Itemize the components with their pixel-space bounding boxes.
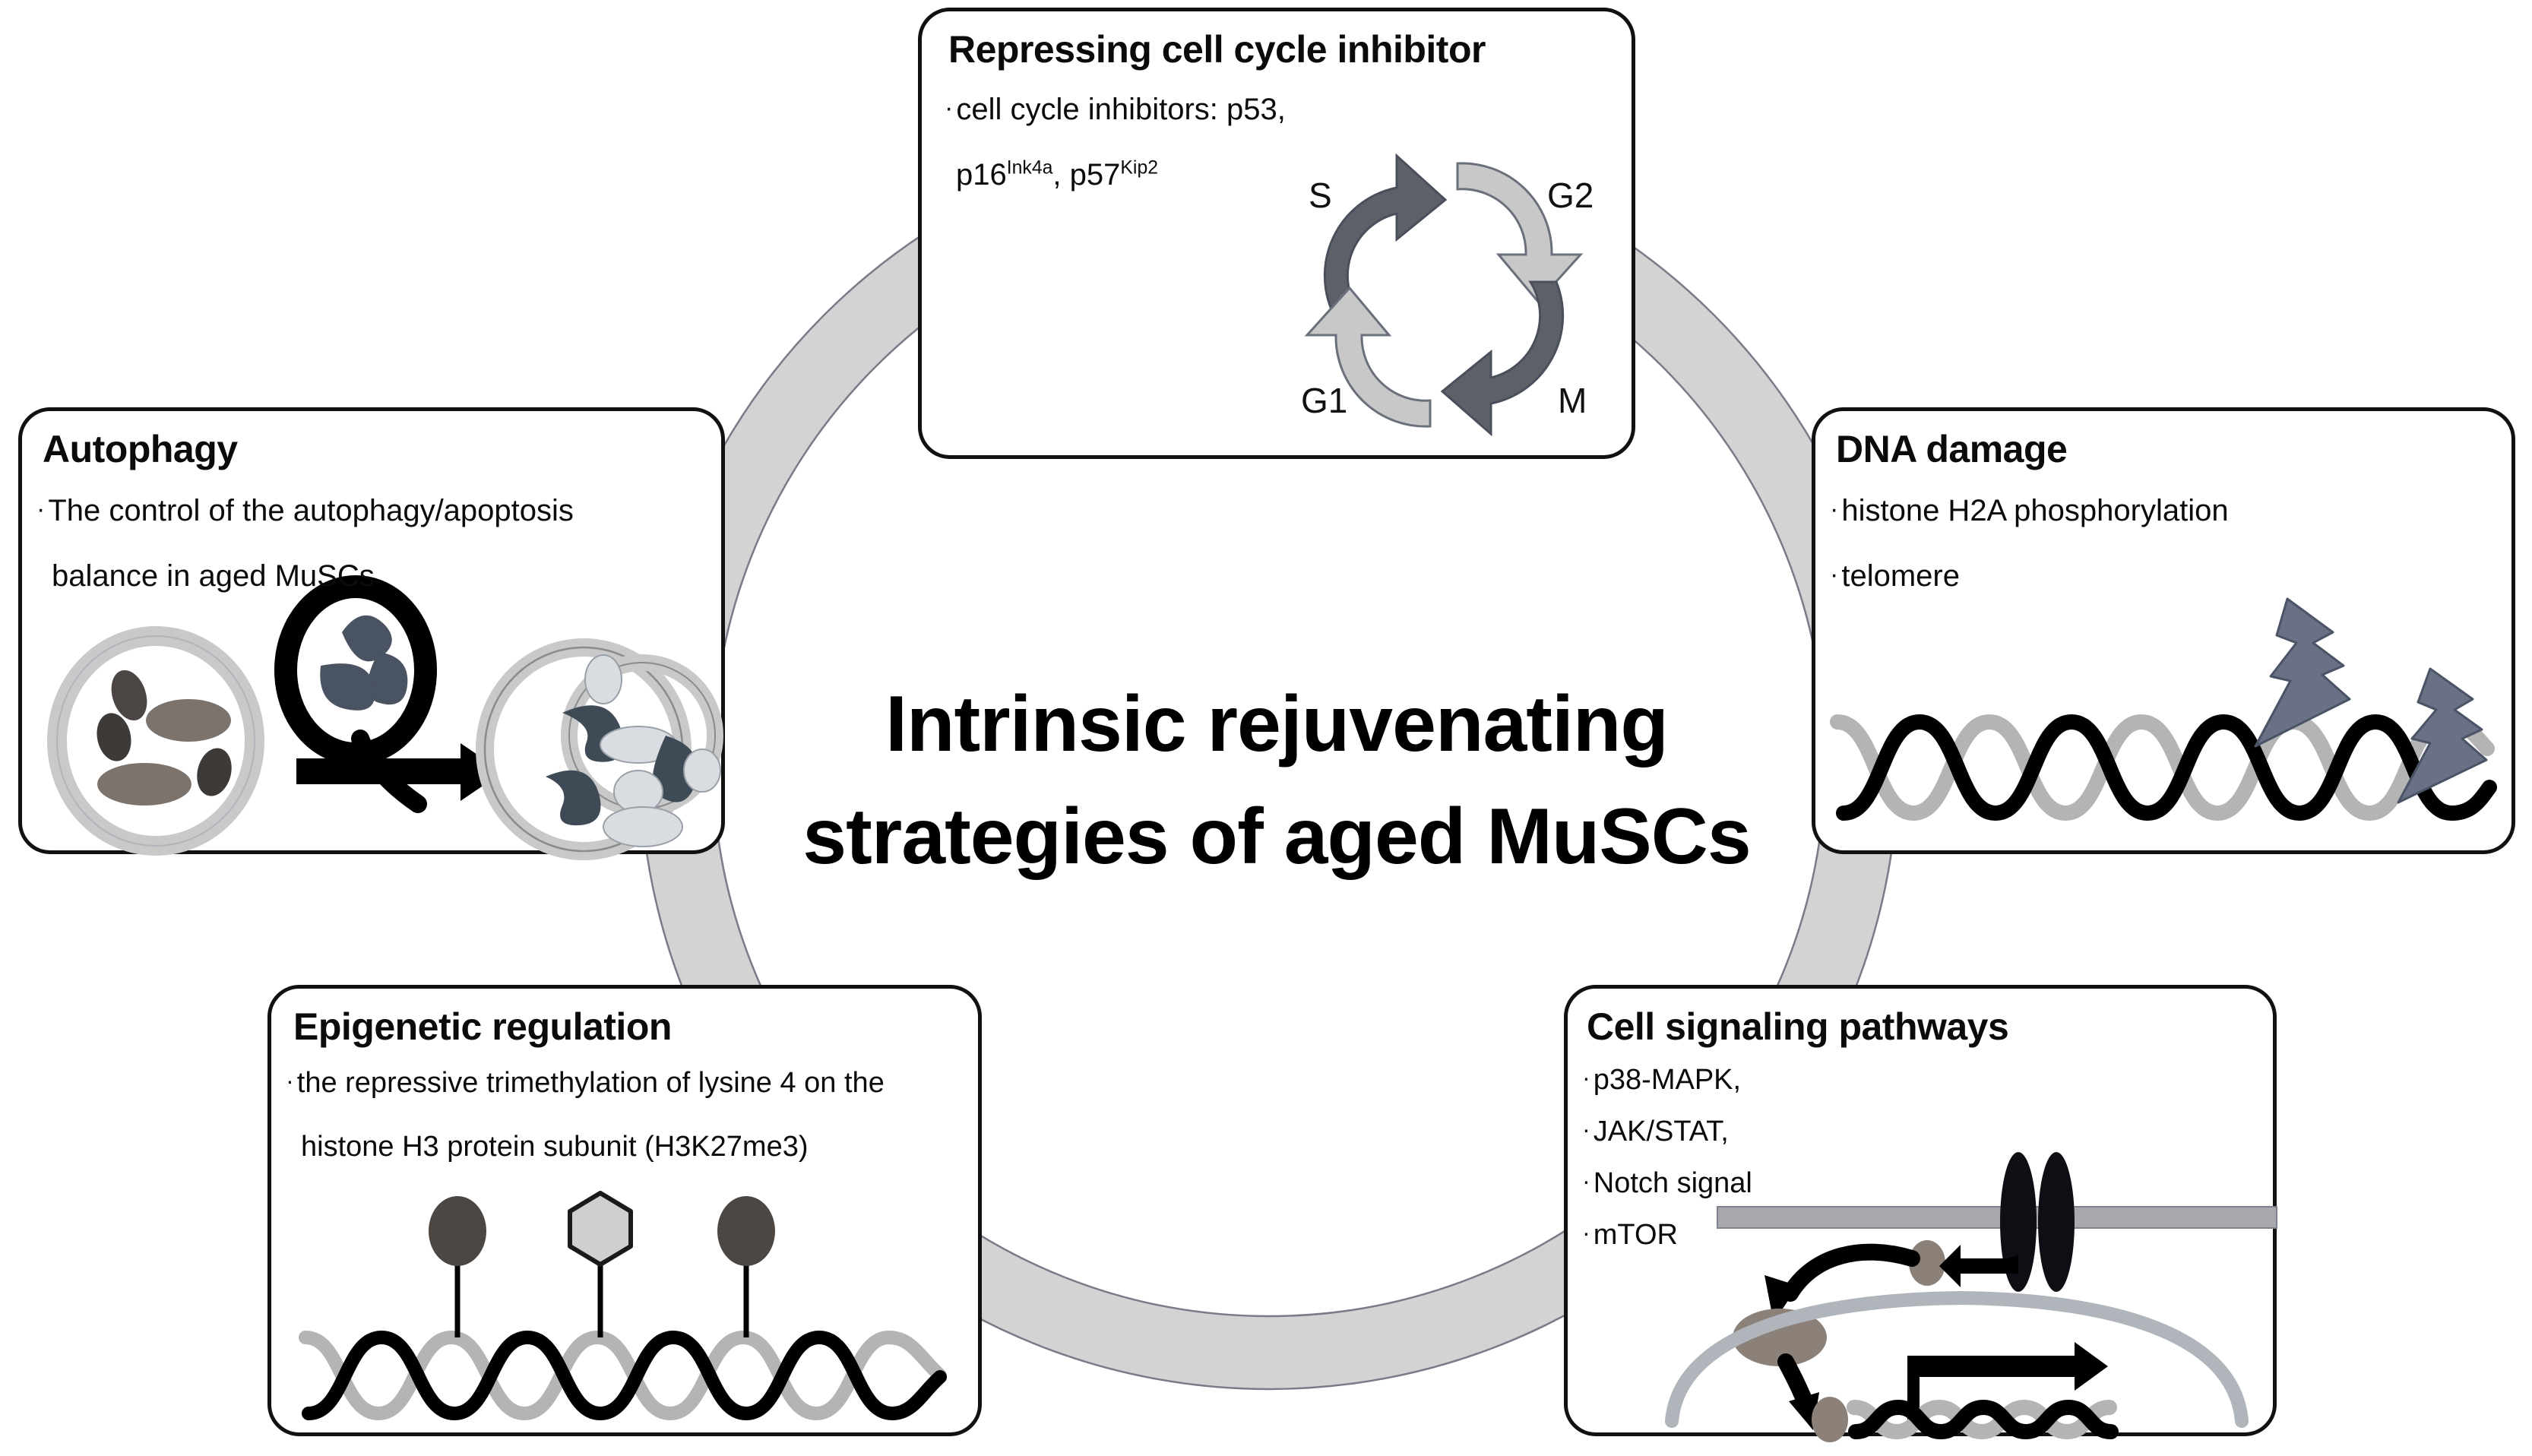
bullet-text: cell cycle inhibitors: p53, [956,93,1286,126]
bullet-marker: · [1582,1167,1590,1195]
bullet-marker: · [945,93,953,122]
dna-helix-damaged [1837,722,2489,813]
bullet-text: telomere [1841,559,1960,593]
bullet-marker: · [1830,560,1838,589]
bullet-text: histone H2A phosphorylation [1841,494,2228,527]
plasma-membrane [1717,1207,2277,1228]
bullet-marker: · [1582,1219,1590,1246]
card-title-cell-cycle: Repressing cell cycle inhibitor [948,27,1486,71]
bullet-text: balance in aged MuSCs [52,559,375,593]
bullet-text: p38-MAPK, [1594,1064,1741,1096]
bullet-dna-damage-1: ·telomere [1830,559,1960,593]
diagram-canvas: Intrinsic rejuvenating strategies of age… [0,0,2532,1456]
bullet-autophagy-0: ·The control of the autophagy/apoptosis [36,494,574,528]
bound-factor [1812,1397,1848,1442]
dna-damage-diagram [1830,585,2499,836]
bullet-marker: · [1582,1116,1590,1143]
card-title-autophagy: Autophagy [43,427,238,471]
bullet-text: The control of the autophagy/apoptosis [48,494,574,527]
gene-p57-base: , p57 [1052,158,1120,191]
bullet-marker: · [1830,495,1838,524]
cell-signaling-diagram [1634,1094,2277,1429]
nuclear-dna-helix [1854,1407,2111,1432]
card-title-signaling: Cell signaling pathways [1587,1005,2008,1049]
bullet-text: mTOR [1594,1219,1678,1251]
gene-p16-base: p16 [956,158,1007,191]
bullet-cell-cycle-0: ·cell cycle inhibitors: p53, [945,93,1286,127]
bullet-cell-cycle-1: p16Ink4a, p57Kip2 [956,158,1158,192]
histone-mark-1 [429,1196,486,1337]
bullet-text: the repressive trimethylation of lysine … [297,1067,885,1099]
bullet-signaling-1: ·JAK/STAT, [1582,1116,1729,1148]
epigenetic-diagram [298,1201,951,1429]
bullet-signaling-0: ·p38-MAPK, [1582,1064,1741,1097]
bullet-marker: · [1582,1064,1590,1091]
cell-cycle-arrow-s [1325,156,1445,309]
bullet-marker: · [286,1067,294,1094]
gene-p57-superscript: Kip2 [1120,158,1158,179]
bullet-epigenetic-1: histone H3 protein subunit (H3K27me3) [301,1131,809,1163]
autophagy-cell-before [57,636,255,846]
autophagy-diagram [38,623,707,851]
center-title: Intrinsic rejuvenating strategies of age… [684,669,1869,893]
center-title-line-2: strategies of aged MuSCs [684,781,1869,894]
bullet-autophagy-1: balance in aged MuSCs [52,559,375,593]
bullet-marker: · [36,495,45,524]
cell-cycle-label-g1: G1 [1301,380,1347,421]
bullet-text: JAK/STAT, [1594,1116,1729,1147]
bullet-text: Notch signal [1594,1167,1752,1199]
cell-cycle-label-m: M [1558,380,1587,421]
autophagy-cell-after [485,647,720,851]
cell-cycle-label-s: S [1309,175,1332,216]
bullet-dna-damage-0: ·histone H2A phosphorylation [1830,494,2229,528]
methyl-hexagon-mark [570,1193,631,1337]
card-title-dna-damage: DNA damage [1836,427,2067,471]
bullet-text: histone H3 protein subunit (H3K27me3) [301,1131,809,1163]
bullet-signaling-2: ·Notch signal [1582,1167,1752,1200]
cell-cycle-arrow-m [1442,282,1563,434]
histone-mark-2 [717,1196,775,1337]
gene-p16-superscript: Ink4a [1007,158,1053,179]
center-title-line-1: Intrinsic rejuvenating [684,669,1869,781]
card-title-epigenetic: Epigenetic regulation [293,1005,672,1049]
bullet-signaling-3: ·mTOR [1582,1219,1678,1252]
epigenetic-dna-helix [305,1337,940,1413]
cell-cycle-label-g2: G2 [1547,175,1594,216]
bullet-epigenetic-0: ·the repressive trimethylation of lysine… [286,1067,885,1100]
